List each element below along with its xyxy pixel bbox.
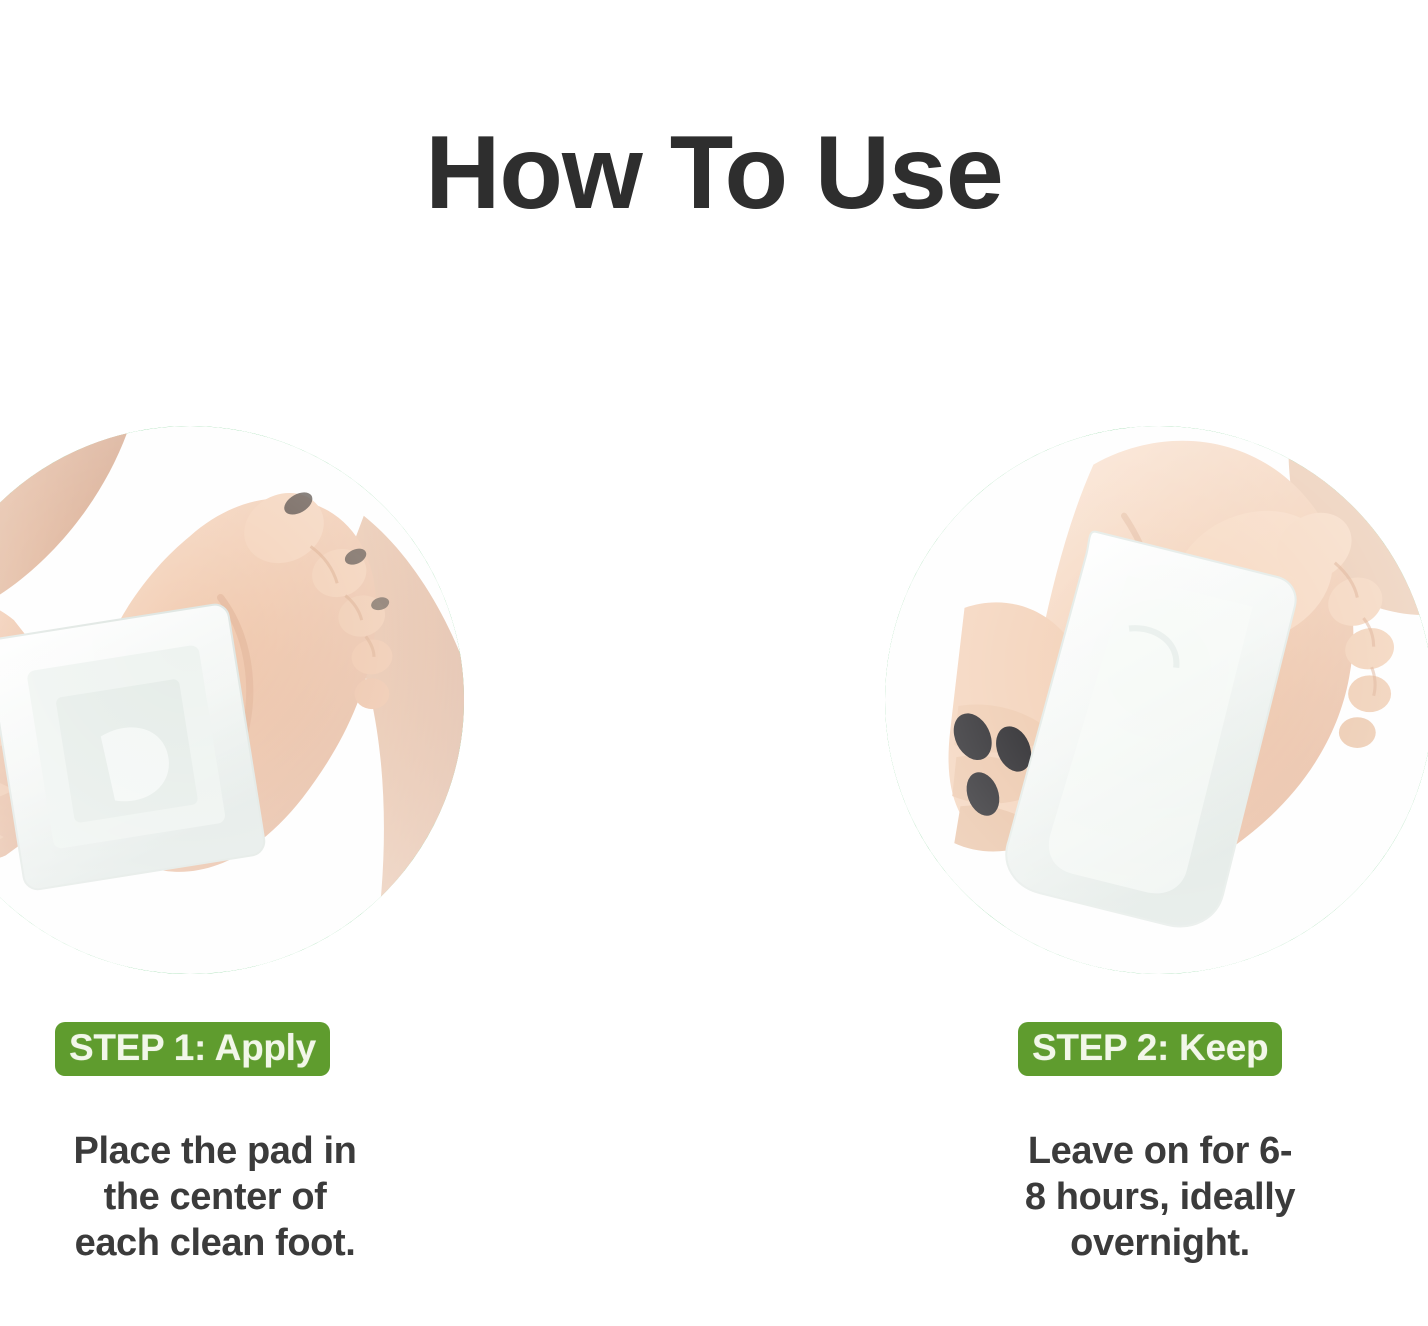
step-1-image-circle xyxy=(0,426,464,974)
step-1-caption-line-1: Place the pad in xyxy=(20,1128,410,1174)
step-1-photo xyxy=(0,426,464,974)
step-1-caption: Place the pad in the center of each clea… xyxy=(20,1128,410,1266)
step-1-caption-line-3: each clean foot. xyxy=(20,1220,410,1266)
step-2-photo xyxy=(885,426,1428,974)
step-1-caption-line-2: the center of xyxy=(20,1174,410,1220)
step-1-badge: STEP 1: Apply xyxy=(55,1022,330,1076)
step-card-1: STEP 1: Apply Place the pad in the cente… xyxy=(0,0,440,1326)
step-1-image-clip xyxy=(0,426,464,974)
step-2-image-circle xyxy=(885,426,1428,974)
step-2-image-clip xyxy=(885,426,1428,974)
steps-container: STEP 1: Apply Place the pad in the cente… xyxy=(0,0,1428,1326)
step-card-2: STEP 2: Keep Leave on for 6- 8 hours, id… xyxy=(443,0,985,1326)
